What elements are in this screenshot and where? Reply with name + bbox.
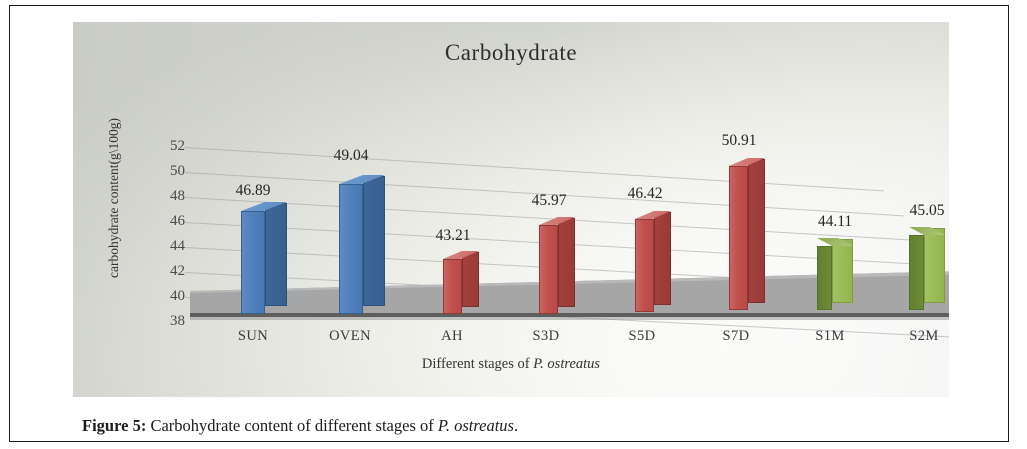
xtick-s1m: S1M <box>794 328 866 345</box>
ytick-48: 48 <box>151 188 185 205</box>
bar-side <box>909 235 924 310</box>
xtick-sun: SUN <box>217 328 289 345</box>
xtick-s2m: S2M <box>888 328 949 345</box>
caption-label: Figure 5: <box>82 416 146 435</box>
xtick-oven: OVEN <box>310 328 390 345</box>
ytick-44: 44 <box>151 238 185 255</box>
gridline-52 <box>185 147 884 191</box>
ytick-38: 38 <box>151 313 185 330</box>
bar-ah[interactable] <box>443 259 462 314</box>
bar-s2m[interactable] <box>909 235 945 310</box>
bar-side <box>817 246 832 310</box>
bar-face <box>635 219 654 312</box>
bar-side <box>363 176 385 306</box>
ytick-42: 42 <box>151 263 185 280</box>
xtick-s5d: S5D <box>606 328 678 345</box>
bar-s1m[interactable] <box>817 246 853 310</box>
datalabel-s3d: 45.97 <box>513 192 585 210</box>
chart-title: Carbohydrate <box>73 40 949 66</box>
bar-face <box>832 239 853 303</box>
x-axis-title-plain: Different stages of <box>422 356 533 372</box>
datalabel-oven: 49.04 <box>315 147 387 165</box>
x-axis-title-species: P. ostreatus <box>533 356 600 372</box>
datalabel-s7d: 50.91 <box>703 132 775 150</box>
chart-canvas: 52 50 48 46 44 42 40 38 carbohydrate con… <box>73 22 949 397</box>
xtick-s3d: S3D <box>510 328 582 345</box>
bar-face <box>443 259 462 314</box>
datalabel-sun: 46.89 <box>217 182 289 200</box>
bar-side <box>654 212 671 305</box>
datalabel-s5d: 46.42 <box>609 185 681 203</box>
datalabel-s1m: 44.11 <box>799 213 871 231</box>
xtick-ah: AH <box>416 328 488 345</box>
chart-plot-area: Carbohydrate 52 50 48 <box>73 22 949 397</box>
bar-s3d[interactable] <box>539 225 558 314</box>
bar-s5d[interactable] <box>635 219 654 312</box>
bar-side <box>748 159 765 303</box>
caption-species: P. ostreatus <box>438 416 514 435</box>
datalabel-ah: 43.21 <box>417 227 489 245</box>
caption-period: . <box>514 416 518 435</box>
xtick-s7d: S7D <box>700 328 772 345</box>
ytick-52: 52 <box>151 138 185 155</box>
ytick-40: 40 <box>151 288 185 305</box>
ytick-46: 46 <box>151 213 185 230</box>
bar-face <box>729 166 748 310</box>
ytick-50: 50 <box>151 163 185 180</box>
bar-face <box>924 228 945 303</box>
bar-oven[interactable] <box>339 184 363 314</box>
figure-frame: Carbohydrate 52 50 48 <box>9 5 1009 442</box>
bar-side <box>265 203 287 306</box>
bar-sun[interactable] <box>241 211 265 314</box>
bar-s7d[interactable] <box>729 166 748 310</box>
y-axis-title: carbohydrate content(g\100g) <box>106 83 122 313</box>
bar-side <box>558 218 575 307</box>
datalabel-s2m: 45.05 <box>891 202 949 220</box>
bar-face <box>339 184 363 314</box>
caption-text: Carbohydrate content of different stages… <box>146 416 438 435</box>
figure-caption: Figure 5: Carbohydrate content of differ… <box>82 416 518 436</box>
bar-side <box>462 252 479 307</box>
bar-face <box>539 225 558 314</box>
x-axis-title: Different stages of P. ostreatus <box>73 356 949 373</box>
bar-face-outline <box>241 211 265 314</box>
